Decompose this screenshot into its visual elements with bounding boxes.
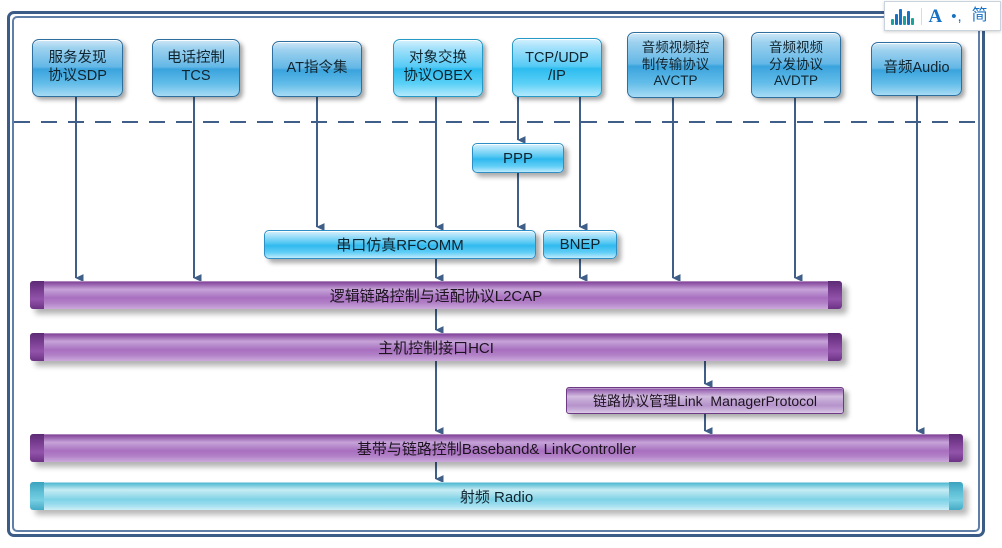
- protocol-box-obex[interactable]: 对象交换 协议OBEX: [393, 39, 483, 97]
- protocol-box-bnep-label: BNEP: [560, 236, 601, 253]
- protocol-box-tcs-label: 电话控制 TCS: [167, 50, 225, 85]
- protocol-box-lmp-label: 链路协议管理Link ManagerProtocol: [593, 391, 817, 411]
- protocol-box-sdp-label: 服务发现 协议SDP: [48, 50, 107, 85]
- protocol-box-sdp[interactable]: 服务发现 协议SDP: [32, 39, 123, 97]
- protocol-box-audio[interactable]: 音频Audio: [871, 42, 962, 96]
- protocol-box-at-commands[interactable]: AT指令集: [272, 41, 362, 97]
- layer-bar-baseband[interactable]: 基带与链路控制Baseband& LinkController: [30, 434, 963, 462]
- layer-bar-hci-label: 主机控制接口HCI: [378, 337, 494, 358]
- protocol-box-bnep[interactable]: BNEP: [543, 230, 617, 259]
- protocol-box-audio-label: 音频Audio: [883, 60, 949, 78]
- protocol-box-tcp-udp-ip-label: TCP/UDP /IP: [525, 50, 589, 85]
- connector-layer: [0, 0, 1002, 548]
- diagram-canvas: 服务发现 协议SDP 电话控制 TCS AT指令集 对象交换 协议OBEX TC…: [0, 0, 1002, 548]
- layer-bar-l2cap[interactable]: 逻辑链路控制与适配协议L2CAP: [30, 281, 842, 309]
- protocol-box-lmp[interactable]: 链路协议管理Link ManagerProtocol: [566, 387, 844, 414]
- ime-punctuation-toggle[interactable]: •,: [951, 9, 962, 24]
- protocol-box-tcp-udp-ip[interactable]: TCP/UDP /IP: [512, 38, 602, 97]
- protocol-box-ppp-label: PPP: [503, 150, 533, 167]
- protocol-box-obex-label: 对象交换 协议OBEX: [403, 50, 472, 85]
- ime-english-toggle[interactable]: A: [929, 7, 943, 26]
- ime-simplified-toggle[interactable]: 简: [972, 8, 988, 24]
- sogou-wave-logo-icon[interactable]: [891, 8, 914, 25]
- protocol-box-avctp[interactable]: 音频视频控 制传输协议 AVCTP: [627, 32, 724, 98]
- protocol-box-rfcomm[interactable]: 串口仿真RFCOMM: [264, 230, 536, 259]
- ime-separator: [921, 8, 922, 25]
- ime-toolbar[interactable]: A •, 简: [884, 1, 1001, 31]
- protocol-box-avdtp[interactable]: 音频视频 分发协议 AVDTP: [751, 32, 841, 98]
- protocol-box-avctp-label: 音频视频控 制传输协议 AVCTP: [642, 40, 710, 89]
- layer-bar-hci[interactable]: 主机控制接口HCI: [30, 333, 842, 361]
- layer-bar-baseband-label: 基带与链路控制Baseband& LinkController: [357, 438, 636, 459]
- protocol-box-avdtp-label: 音频视频 分发协议 AVDTP: [769, 40, 823, 89]
- layer-bar-radio-label: 射频 Radio: [460, 486, 533, 507]
- protocol-box-rfcomm-label: 串口仿真RFCOMM: [336, 234, 464, 255]
- layer-bar-l2cap-label: 逻辑链路控制与适配协议L2CAP: [330, 285, 543, 306]
- protocol-box-at-commands-label: AT指令集: [287, 60, 348, 78]
- protocol-box-ppp[interactable]: PPP: [472, 143, 564, 173]
- layer-bar-radio[interactable]: 射频 Radio: [30, 482, 963, 510]
- protocol-box-tcs[interactable]: 电话控制 TCS: [152, 39, 240, 97]
